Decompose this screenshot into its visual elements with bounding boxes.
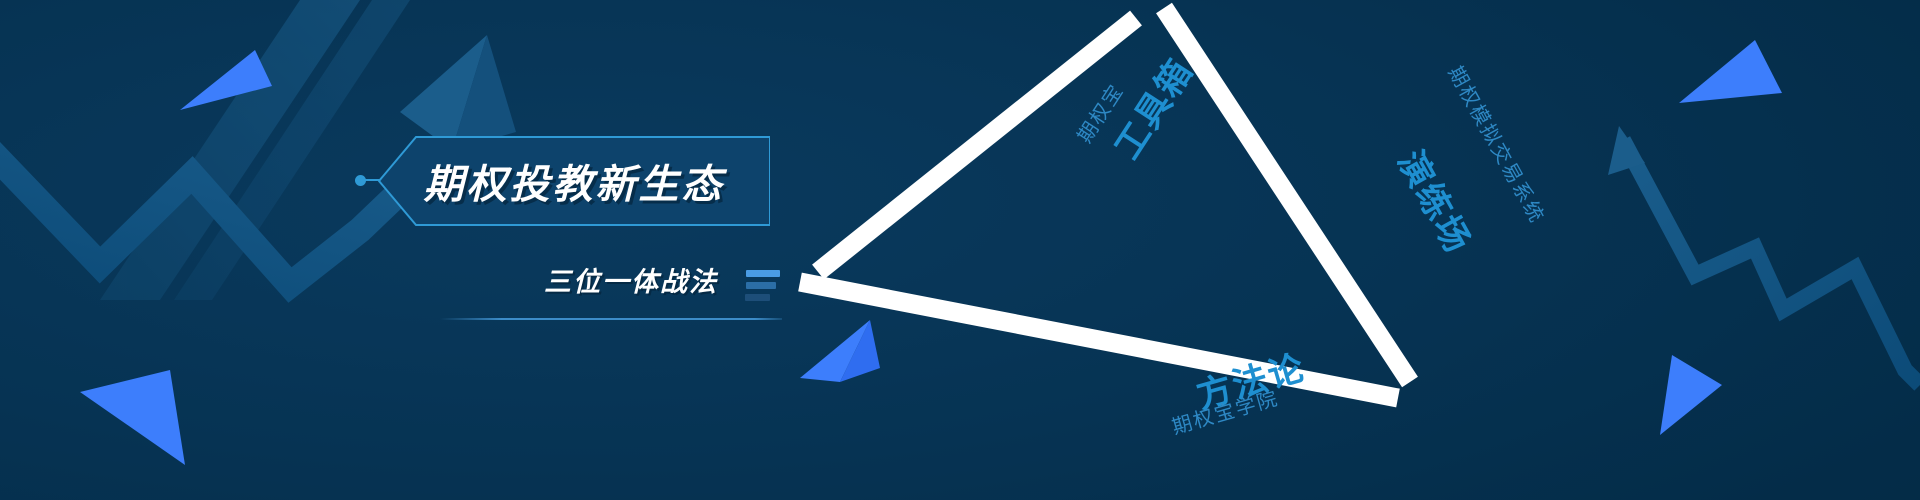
bar-3 bbox=[745, 294, 770, 301]
subtitle-text: 三位一体战法 bbox=[544, 260, 718, 299]
page-title: 期权投教新生态 bbox=[378, 136, 770, 226]
three-bars-icon bbox=[734, 270, 780, 304]
title-badge: 期权投教新生态 bbox=[378, 136, 770, 226]
bar-2 bbox=[746, 282, 776, 289]
bar-1 bbox=[746, 270, 780, 277]
banner-root: 期权宝 工具箱 期权模拟交易系统 演练场 方法论 期权宝学院 期权投教新生态 三… bbox=[0, 0, 1920, 500]
triangle-diagram bbox=[0, 0, 1920, 500]
subtitle-row: 三位一体战法 bbox=[440, 258, 780, 320]
triangle-edge-right bbox=[1164, 8, 1410, 382]
subtitle-underline bbox=[440, 318, 782, 320]
